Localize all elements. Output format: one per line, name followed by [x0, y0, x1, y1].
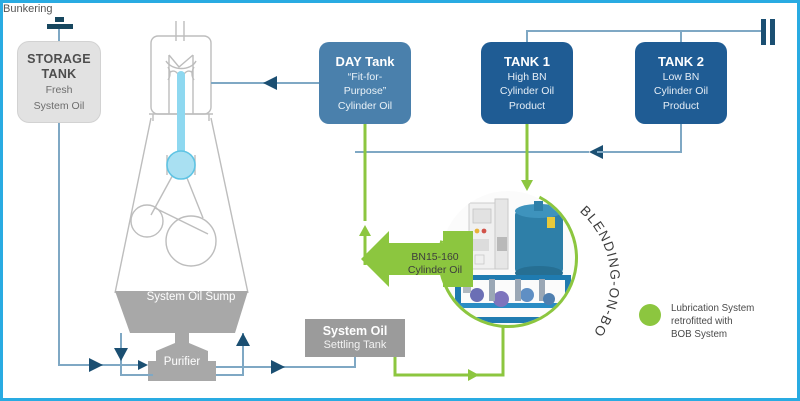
storage-tank-node[interactable]: STORAGE TANK Fresh System Oil [17, 41, 101, 123]
settling-tank-title: System Oil [323, 324, 388, 339]
storage-tank-sub-line1: Fresh [46, 84, 73, 96]
settling-tank-node[interactable]: System Oil Settling Tank [305, 319, 405, 357]
storage-tank-title-line1: STORAGE [27, 52, 91, 67]
tank-2-sub-line2: Cylinder Oil [654, 85, 708, 97]
tank-1-sub-line1: High BN [507, 71, 546, 83]
legend-line3: BOB System [671, 328, 783, 341]
purifier-label: Purifier [144, 356, 220, 368]
tank-2-sub-line3: Product [663, 100, 699, 112]
day-tank-sub-line3: Cylinder Oil [338, 100, 392, 112]
legend-line2: retrofitted with [671, 315, 783, 328]
storage-tank-title-line2: TANK [42, 67, 77, 82]
day-tank-title: DAY Tank [335, 54, 394, 69]
bn-arrow-label-line2: Cylinder Oil [395, 264, 475, 277]
tank-1-title: TANK 1 [504, 54, 550, 69]
storage-tank-sub-line2: System Oil [34, 100, 85, 112]
tank-2-sub-line1: Low BN [663, 71, 700, 83]
legend-line1: Lubrication System [671, 302, 783, 315]
crosshead-pin [167, 151, 195, 179]
bunkering-connector-icon [761, 19, 775, 45]
system-oil-sump-label: System Oil Sump [131, 291, 251, 303]
day-tank-sub-line1: “Fit-for- [348, 71, 382, 83]
purifier-shape [148, 328, 216, 381]
tank-1-sub-line2: Cylinder Oil [500, 85, 554, 97]
tank-1-sub-line3: Product [509, 100, 545, 112]
day-tank-sub-line2: Purpose” [344, 85, 387, 97]
tank-1-node[interactable]: TANK 1 High BN Cylinder Oil Product [481, 42, 573, 124]
settling-tank-subtitle: Settling Tank [324, 339, 387, 352]
bn-arrow-label-line1: BN15-160 [395, 251, 475, 264]
legend-dot-icon [639, 304, 661, 326]
storage-bunkering-connector-icon [47, 17, 73, 29]
tank-2-node[interactable]: TANK 2 Low BN Cylinder Oil Product [635, 42, 727, 124]
diagram-canvas: BLENDING-ON-BOARD STORAGE TANK Fresh Sys… [0, 0, 800, 401]
legend-text: Lubrication System retrofitted with BOB … [671, 302, 783, 342]
tank-2-title: TANK 2 [658, 54, 704, 69]
bn-arrow-label: BN15-160 Cylinder Oil [395, 251, 475, 276]
day-tank-node[interactable]: DAY Tank “Fit-for- Purpose” Cylinder Oil [319, 42, 411, 124]
